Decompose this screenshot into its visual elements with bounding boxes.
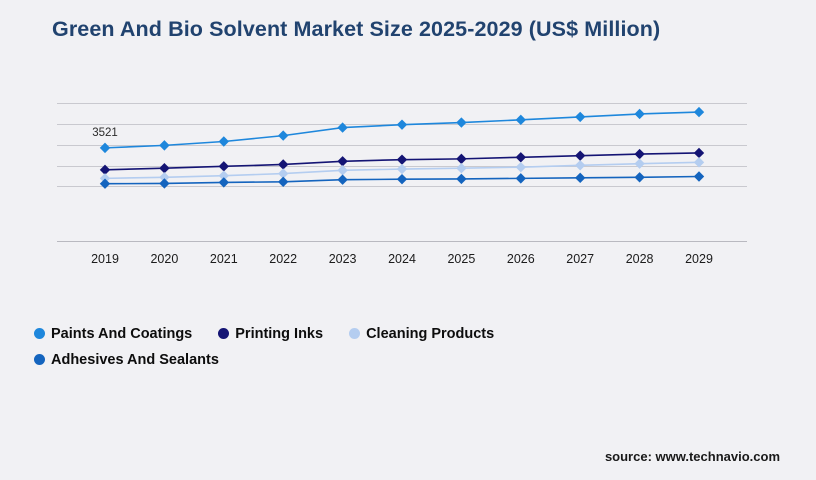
legend-row: Adhesives And Sealants [34, 347, 774, 372]
x-axis-tick-2023: 2023 [329, 252, 357, 266]
legend-swatch-icon [218, 328, 229, 339]
data-point-marker [278, 177, 288, 187]
data-point-marker [694, 171, 704, 181]
data-point-marker [397, 119, 407, 129]
data-point-marker [694, 107, 704, 117]
data-point-marker [159, 163, 169, 173]
legend-item-paints-and-coatings[interactable]: Paints And Coatings [34, 322, 192, 347]
data-point-marker [397, 174, 407, 184]
data-point-marker [516, 115, 526, 125]
legend-label: Printing Inks [235, 322, 323, 347]
data-point-marker [337, 165, 347, 175]
x-axis-tick-2024: 2024 [388, 252, 416, 266]
data-point-marker [456, 174, 466, 184]
x-axis-ticks: 2019202020212022202320242025202620272028… [57, 252, 747, 272]
page-title: Green And Bio Solvent Market Size 2025-2… [52, 16, 692, 44]
data-point-marker [575, 150, 585, 160]
series-lines [57, 103, 747, 242]
data-point-marker [634, 158, 644, 168]
data-point-marker [634, 172, 644, 182]
data-point-marker [337, 175, 347, 185]
x-axis-tick-2027: 2027 [566, 252, 594, 266]
data-point-marker [456, 117, 466, 127]
data-point-marker [694, 148, 704, 158]
legend-swatch-icon [34, 354, 45, 365]
data-point-marker [337, 156, 347, 166]
data-point-marker [397, 164, 407, 174]
data-point-marker [575, 173, 585, 183]
data-point-marker [575, 112, 585, 122]
plot-area: 3521 [57, 103, 747, 242]
x-axis-tick-2028: 2028 [626, 252, 654, 266]
data-point-marker [100, 143, 110, 153]
legend-swatch-icon [349, 328, 360, 339]
series-1 [100, 107, 704, 153]
data-point-marker [634, 109, 644, 119]
legend-label: Paints And Coatings [51, 322, 192, 347]
chart-card: Green And Bio Solvent Market Size 2025-2… [0, 0, 816, 480]
x-axis-tick-2022: 2022 [269, 252, 297, 266]
data-point-marker [456, 154, 466, 164]
legend-swatch-icon [34, 328, 45, 339]
series-line [105, 112, 699, 148]
data-point-marker [397, 154, 407, 164]
source-note: source: www.technavio.com [605, 449, 780, 464]
data-point-marker [219, 136, 229, 146]
legend-item-printing-inks[interactable]: Printing Inks [218, 322, 323, 347]
data-point-marker [159, 140, 169, 150]
legend-label: Cleaning Products [366, 322, 494, 347]
data-point-marker [219, 177, 229, 187]
data-point-marker [456, 163, 466, 173]
data-point-marker [634, 149, 644, 159]
legend-item-cleaning-products[interactable]: Cleaning Products [349, 322, 494, 347]
data-point-marker [516, 162, 526, 172]
x-axis-tick-2029: 2029 [685, 252, 713, 266]
data-point-marker [516, 152, 526, 162]
legend-item-adhesives-and-sealants[interactable]: Adhesives And Sealants [34, 347, 219, 372]
data-point-marker [278, 130, 288, 140]
x-axis-line [57, 241, 747, 242]
data-point-marker [337, 122, 347, 132]
data-point-marker [516, 173, 526, 183]
x-axis-tick-2019: 2019 [91, 252, 119, 266]
x-axis-tick-2025: 2025 [447, 252, 475, 266]
x-axis-tick-2020: 2020 [150, 252, 178, 266]
data-point-marker [694, 157, 704, 167]
data-point-marker [100, 179, 110, 189]
x-axis-tick-2021: 2021 [210, 252, 238, 266]
chart-legend: Paints And CoatingsPrinting InksCleaning… [34, 322, 774, 373]
data-point-label: 3521 [92, 127, 118, 139]
legend-row: Paints And CoatingsPrinting InksCleaning… [34, 322, 774, 347]
data-point-marker [159, 178, 169, 188]
data-point-marker [575, 160, 585, 170]
data-point-marker [219, 161, 229, 171]
data-point-marker [278, 159, 288, 169]
x-axis-tick-2026: 2026 [507, 252, 535, 266]
legend-label: Adhesives And Sealants [51, 348, 219, 373]
